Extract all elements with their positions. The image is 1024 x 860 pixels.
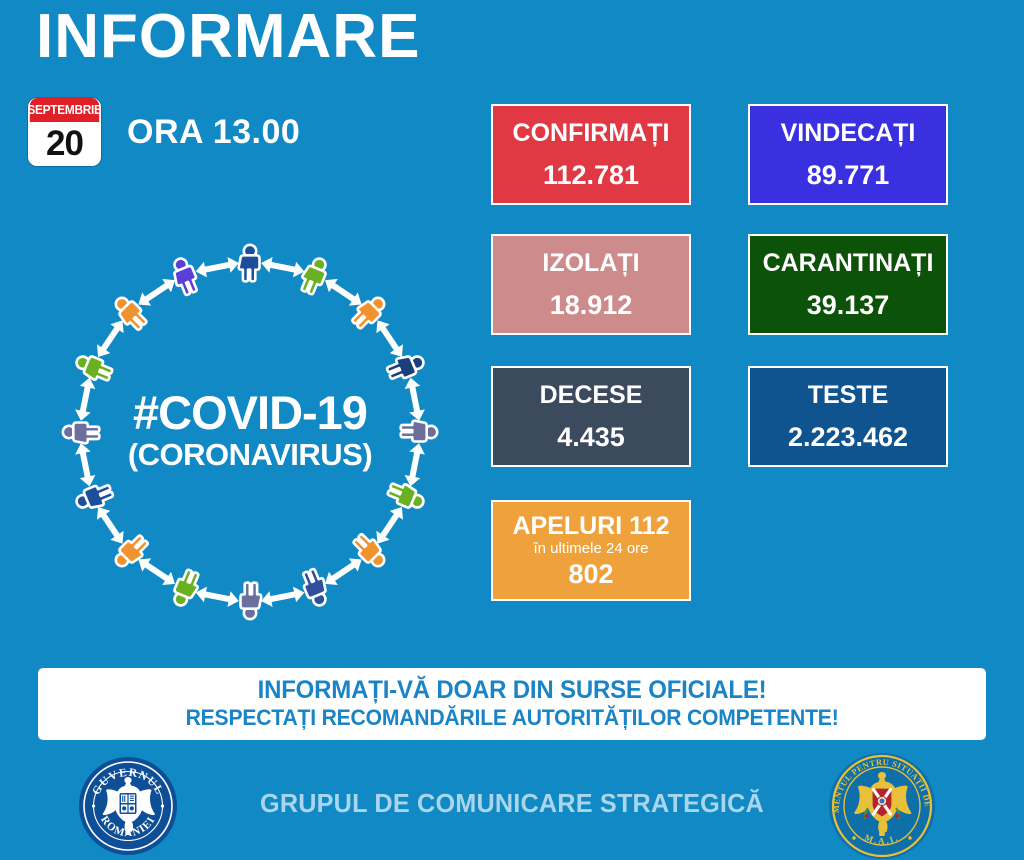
stat-sublabel-apeluri: în ultimele 24 ore: [533, 541, 648, 558]
hour-label: ORA 13.00: [127, 113, 300, 152]
stat-label-decese: DECESE: [540, 382, 643, 410]
stat-box-apeluri: APELURI 112în ultimele 24 ore802: [491, 500, 691, 601]
stat-label-confirmati: CONFIRMAȚI: [513, 120, 670, 148]
distance-arrow: [194, 255, 240, 279]
stat-value-confirmati: 112.781: [543, 161, 639, 189]
distance-arrow: [371, 316, 409, 361]
person-icon: [239, 245, 260, 281]
stat-label-izolati: IZOLAȚI: [542, 250, 639, 278]
stat-box-vindecati: VINDECAȚI89.771: [748, 104, 948, 205]
distance-arrow: [194, 585, 240, 609]
people-ring-graphic: [40, 222, 460, 642]
banner-line-2: RESPECTAȚI RECOMANDĂRILE AUTORITĂȚILOR C…: [186, 705, 839, 731]
person-icon: [63, 423, 100, 444]
stat-label-apeluri: APELURI 112: [512, 513, 669, 541]
stat-value-vindecati: 89.771: [807, 161, 890, 189]
distance-arrow: [260, 255, 306, 279]
distance-arrow: [73, 442, 97, 488]
calendar-icon: SEPTEMBRIE 20: [28, 98, 101, 166]
distance-arrow: [73, 376, 97, 422]
stat-box-confirmati: CONFIRMAȚI112.781: [491, 104, 691, 205]
stat-box-decese: DECESE4.435: [491, 366, 691, 467]
banner-line-1: INFORMAȚI-VĂ DOAR DIN SURSE OFICIALE!: [258, 676, 767, 705]
person-icon: [297, 255, 330, 297]
person-icon: [241, 583, 262, 620]
stat-value-izolati: 18.912: [550, 291, 633, 319]
official-sources-banner: INFORMAȚI-VĂ DOAR DIN SURSE OFICIALE! RE…: [38, 668, 986, 740]
distance-arrow: [403, 376, 427, 422]
date-row: SEPTEMBRIE 20 ORA 13.00: [28, 98, 300, 166]
page-title: INFORMARE: [36, 4, 420, 69]
informare-poster: INFORMARE SEPTEMBRIE 20 ORA 13.00 #COVID…: [0, 0, 1024, 860]
stat-label-vindecati: VINDECAȚI: [781, 120, 916, 148]
guvernul-romaniei-seal-icon: GUVERNUL ROMÂNIEI: [78, 756, 178, 856]
stat-label-teste: TESTE: [808, 382, 889, 410]
stat-value-teste: 2.223.462: [788, 423, 908, 451]
stat-value-carantinati: 39.137: [807, 291, 890, 319]
person-icon: [385, 350, 427, 383]
distance-arrow: [321, 553, 366, 591]
departamentul-situatii-urgenta-seal-icon: DEPARTAMENTUL PENTRU SITUAȚII DE URGENȚĂ…: [828, 752, 936, 860]
stat-value-decese: 4.435: [557, 423, 625, 451]
stat-label-carantinati: CARANTINAȚI: [763, 250, 934, 278]
person-icon: [170, 568, 203, 610]
person-icon: [386, 479, 428, 512]
person-icon: [73, 481, 115, 514]
stat-value-apeluri: 802: [568, 560, 613, 588]
stat-box-izolati: IZOLAȚI18.912: [491, 234, 691, 335]
person-icon: [401, 421, 438, 442]
distance-arrow: [134, 273, 179, 311]
person-icon: [73, 352, 115, 385]
stat-box-carantinati: CARANTINAȚI39.137: [748, 234, 948, 335]
calendar-month: SEPTEMBRIE: [30, 98, 99, 122]
calendar-day: 20: [28, 122, 101, 166]
person-icon: [299, 567, 332, 609]
distance-arrow: [91, 503, 129, 548]
distance-arrow: [260, 585, 306, 609]
person-icon: [168, 255, 201, 297]
social-distancing-illustration: #COVID-19 (CORONAVIRUS): [40, 222, 460, 642]
stat-box-teste: TESTE2.223.462: [748, 366, 948, 467]
distance-arrow: [403, 442, 427, 488]
